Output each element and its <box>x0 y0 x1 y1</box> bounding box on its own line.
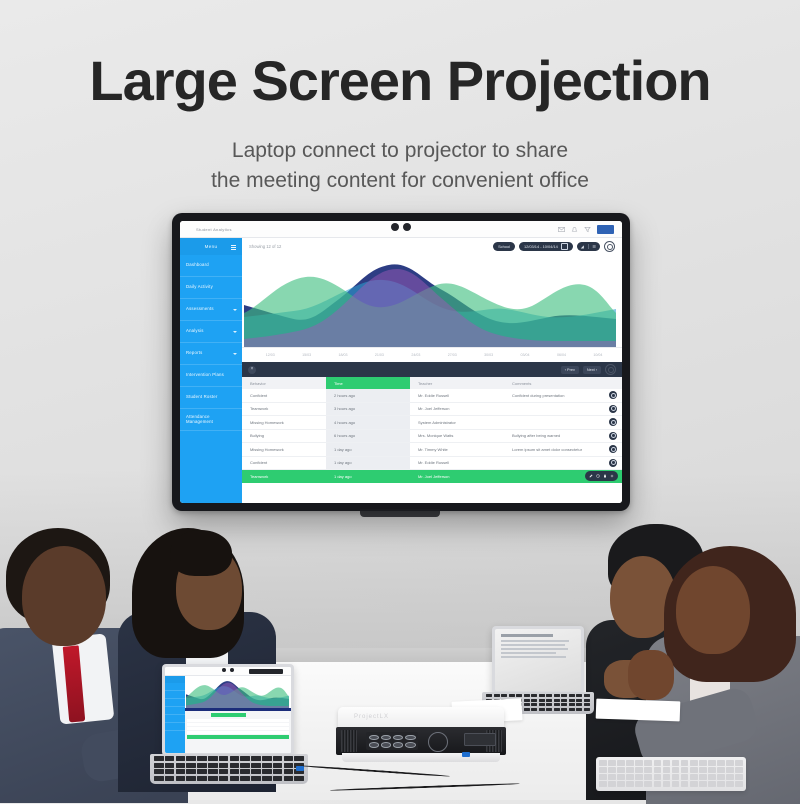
cell-time: 3 hours ago <box>326 403 410 416</box>
chart-toolbar: Showing 12 of 12 School 12/03/14 - 10/04… <box>242 238 622 255</box>
laptop-right-screen <box>492 626 584 694</box>
laptop-left-display <box>165 667 291 753</box>
table-row[interactable]: Missing Homework 4 hours ago System Admi… <box>242 416 622 430</box>
area-chart-mirror <box>185 676 291 708</box>
dashboard-main: Showing 12 of 12 School 12/03/14 - 10/04… <box>242 238 622 503</box>
chevron-down-icon <box>233 331 237 333</box>
chevron-down-icon <box>233 353 237 355</box>
sidebar-item-intervention-plans[interactable]: Intervention Plans <box>180 365 242 387</box>
chart-tool-group: School 12/03/14 - 10/04/14 ◢ ☰ <box>493 241 615 252</box>
chart-x-axis: 12/03 15/03 18/03 21/03 24/03 27/03 30/0… <box>242 347 622 362</box>
cell-behavior: Teamwork <box>242 406 326 411</box>
clock-icon[interactable] <box>596 474 600 478</box>
filter-icon[interactable] <box>584 226 591 233</box>
breadcrumb: Showing 12 of 12 <box>249 244 281 249</box>
more-options-icon[interactable] <box>609 405 617 413</box>
rca-jacks[interactable] <box>366 732 418 750</box>
window-dots <box>222 668 234 672</box>
gear-icon[interactable] <box>605 364 616 375</box>
behavior-table: × ‹ Prev Next › Behavior Time Te <box>242 362 622 503</box>
cell-behavior: Bullying <box>242 433 326 438</box>
window-dots <box>391 223 411 231</box>
column-header-comments[interactable]: Comments <box>504 381 622 386</box>
cell-teacher: Mr. Timmy White <box>410 447 504 452</box>
prev-page-button[interactable]: ‹ Prev <box>561 366 579 374</box>
projector-brand: ProjectLX <box>354 714 389 720</box>
x-tick: 12/03 <box>252 353 288 357</box>
date-range-label: 12/03/14 - 10/04/14 <box>524 244 558 249</box>
main-mirror <box>185 676 291 753</box>
cell-behavior: Missing Homework <box>242 447 326 452</box>
sidebar-item[interactable] <box>165 723 185 731</box>
x-tick: 15/03 <box>288 353 324 357</box>
sidebar-mirror <box>165 676 185 753</box>
cell-behavior: Confident <box>242 393 326 398</box>
view-toggle[interactable]: ◢ ☰ <box>577 242 600 251</box>
x-tick: 18/03 <box>325 353 361 357</box>
x-tick: 10/04 <box>580 353 616 357</box>
table-toolbar-right: ‹ Prev Next › <box>561 364 616 375</box>
add-icon[interactable] <box>610 474 614 478</box>
sidebar-item-label: Assessments <box>186 307 214 312</box>
cell-teacher: Mr. Eddie Russell <box>410 393 504 398</box>
cell-time: 1 day ago <box>326 470 410 483</box>
cell-time: 4 hours ago <box>326 416 410 429</box>
laptop-left-screen <box>162 664 294 756</box>
window-dot <box>230 668 234 672</box>
close-icon[interactable]: × <box>248 366 256 374</box>
sidebar-item-assessments[interactable]: Assessments <box>180 299 242 321</box>
sidebar-header[interactable]: Menu <box>180 238 242 255</box>
dashboard-body-mirror <box>165 676 291 753</box>
more-options-icon[interactable] <box>609 418 617 426</box>
column-header-teacher[interactable]: Teacher <box>410 381 504 386</box>
window-dot <box>391 223 399 231</box>
projector: ProjectLX <box>336 707 506 769</box>
calendar-icon <box>561 243 568 250</box>
cell-comments: Bullying after being warned <box>504 433 609 438</box>
cell-time: 1 day ago <box>326 457 410 470</box>
sidebar-item-analysis[interactable]: Analysis <box>180 321 242 343</box>
school-filter-label: School <box>498 244 510 249</box>
sidebar-item[interactable] <box>165 699 185 707</box>
table-row-mirror[interactable] <box>187 719 289 722</box>
cell-behavior: Teamwork <box>242 474 326 479</box>
sidebar-item-daily-activity[interactable]: Daily Activity <box>180 277 242 299</box>
cell-comments: Lorem ipsum sit amet dolor consectetur <box>504 447 609 452</box>
laptop-left-keyboard[interactable] <box>154 756 304 781</box>
cell-behavior: Confident <box>242 460 326 465</box>
cell-comments: Confident during presentation <box>504 393 609 398</box>
table-mirror <box>185 711 291 753</box>
hair-front <box>170 530 232 576</box>
table-row[interactable]: Missing Homework 1 day ago Mr. Timmy Whi… <box>242 443 622 457</box>
profile-chip[interactable] <box>249 669 283 674</box>
app-title: Student Analytics <box>188 227 232 232</box>
sidebar-item-label: Dashboard <box>186 263 209 268</box>
app-topbar: Student Analytics <box>180 221 622 238</box>
sidebar-item-label: Attendance Management <box>186 415 236 424</box>
column-header-time[interactable]: Time <box>326 377 410 389</box>
sidebar-item-student-roster[interactable]: Student Roster <box>180 387 242 409</box>
head <box>22 546 106 646</box>
display-mount <box>360 509 440 517</box>
cell-time: 1 day ago <box>326 443 410 456</box>
sidebar-item-label: Student Roster <box>186 395 217 400</box>
document-preview <box>495 629 581 663</box>
head <box>676 566 750 654</box>
cell-behavior: Missing Homework <box>242 420 326 425</box>
cell-time: 2 hours ago <box>326 389 410 402</box>
table-row[interactable]: Bullying 6 hours ago Mrs. Monique Watts … <box>242 430 622 444</box>
sidebar-item[interactable] <box>165 683 185 691</box>
profile-chip[interactable] <box>597 225 614 234</box>
sidebar-item-label: Reports <box>186 351 202 356</box>
cell-time: 6 hours ago <box>326 430 410 443</box>
area-chart-svg <box>244 255 616 347</box>
x-tick: 06/04 <box>543 353 579 357</box>
poster-scene: Large Screen Projection Laptop connect t… <box>0 0 800 800</box>
hand <box>628 650 674 700</box>
gear-icon[interactable] <box>604 241 615 252</box>
x-tick: 03/04 <box>507 353 543 357</box>
sidebar-item-label: Analysis <box>186 329 204 334</box>
table-row[interactable]: Teamwork 3 hours ago Mr. Joel Jefferson <box>242 403 622 417</box>
next-page-button[interactable]: Next › <box>583 366 601 374</box>
table-row[interactable]: Confident 1 day ago Mr. Eddie Russell <box>242 457 622 471</box>
sidebar: Menu Dashboard Daily Activity Assessment… <box>180 238 242 503</box>
table-row-mirror[interactable] <box>187 723 289 726</box>
sidebar-item-dashboard[interactable]: Dashboard <box>180 255 242 277</box>
sidebar-header[interactable] <box>165 676 185 683</box>
x-tick: 24/03 <box>398 353 434 357</box>
column-header-behavior[interactable]: Behavior <box>242 381 326 386</box>
laptop-right-display <box>495 629 581 691</box>
window-dot <box>403 223 411 231</box>
edit-icon[interactable] <box>589 474 593 478</box>
bell-icon[interactable] <box>571 226 578 233</box>
more-options-icon[interactable] <box>609 459 617 467</box>
mail-icon[interactable] <box>558 226 565 233</box>
sidebar-item[interactable] <box>165 691 185 699</box>
projector-port-panel <box>336 727 506 755</box>
vga-plug-laptop <box>296 766 304 771</box>
sidebar-item-reports[interactable]: Reports <box>180 343 242 365</box>
more-options-icon[interactable] <box>609 432 617 440</box>
page-subtitle: Laptop connect to projector to share the… <box>0 136 800 197</box>
row-action-toolbar <box>585 471 618 481</box>
vga-plug-projector <box>462 752 470 757</box>
table-toolbar: × ‹ Prev Next › <box>242 362 622 377</box>
dashboard-body: Menu Dashboard Daily Activity Assessment… <box>180 238 622 503</box>
delete-icon[interactable] <box>603 474 607 478</box>
x-tick: 27/03 <box>434 353 470 357</box>
table-row-selected[interactable]: Teamwork 1 day ago Mr. Joel Jefferson <box>242 470 622 483</box>
projector-body: ProjectLX <box>338 707 504 729</box>
table-row-mirror[interactable] <box>187 727 289 730</box>
cell-teacher: Mrs. Monique Watts <box>410 433 504 438</box>
cell-teacher: Mr. Joel Jefferson <box>410 406 504 411</box>
table-body: Confident 2 hours ago Mr. Eddie Russell … <box>242 389 622 503</box>
display-screen: Student Analytics <box>180 221 622 503</box>
cell-teacher: System Administrator <box>410 420 504 425</box>
school-filter-button[interactable]: School <box>493 242 515 251</box>
sidebar-item[interactable] <box>165 707 185 715</box>
subtitle-line-2: the meeting content for convenient offic… <box>0 166 800 196</box>
more-options-icon[interactable] <box>609 445 617 453</box>
desktop-keyboard[interactable] <box>596 757 746 791</box>
chart-view-icon[interactable]: ◢ <box>577 244 588 249</box>
projector-base <box>342 753 500 762</box>
sidebar-item-label: Intervention Plans <box>186 373 224 378</box>
vga-port[interactable] <box>464 733 496 746</box>
dashboard-mirror <box>165 667 291 753</box>
x-tick: 21/03 <box>361 353 397 357</box>
wall-display: Student Analytics <box>172 213 630 511</box>
page-title: Large Screen Projection <box>0 52 800 111</box>
sidebar-item[interactable] <box>165 715 185 723</box>
cell-teacher: Mr. Eddie Russell <box>410 460 504 465</box>
focus-dial[interactable] <box>428 732 448 752</box>
date-range-button[interactable]: 12/03/14 - 10/04/14 <box>519 242 573 251</box>
laptop-left-base <box>150 754 308 784</box>
table-row[interactable]: Confident 2 hours ago Mr. Eddie Russell … <box>242 389 622 403</box>
area-chart <box>242 255 622 347</box>
table-row-selected-mirror[interactable] <box>187 735 289 739</box>
list-view-icon[interactable]: ☰ <box>588 244 600 249</box>
sidebar-item-label: Daily Activity <box>186 285 213 290</box>
vent-left <box>341 730 357 752</box>
chevron-down-icon <box>233 309 237 311</box>
paper-sheet <box>596 699 681 722</box>
window-dot <box>222 668 226 672</box>
table-header-mirror <box>211 713 246 717</box>
sidebar-item-attendance-management[interactable]: Attendance Management <box>180 409 242 431</box>
more-options-icon[interactable] <box>609 391 617 399</box>
dashboard-app: Student Analytics <box>180 221 622 503</box>
cell-teacher: Mr. Joel Jefferson <box>410 474 504 479</box>
subtitle-line-1: Laptop connect to projector to share <box>0 136 800 166</box>
sidebar-menu-label: Menu <box>205 244 218 249</box>
table-row-mirror[interactable] <box>187 731 289 734</box>
table-header-row: Behavior Time Teacher Comments <box>242 377 622 389</box>
app-topbar-mirror <box>165 667 291 676</box>
x-tick: 30/03 <box>470 353 506 357</box>
hamburger-icon[interactable] <box>231 244 236 249</box>
